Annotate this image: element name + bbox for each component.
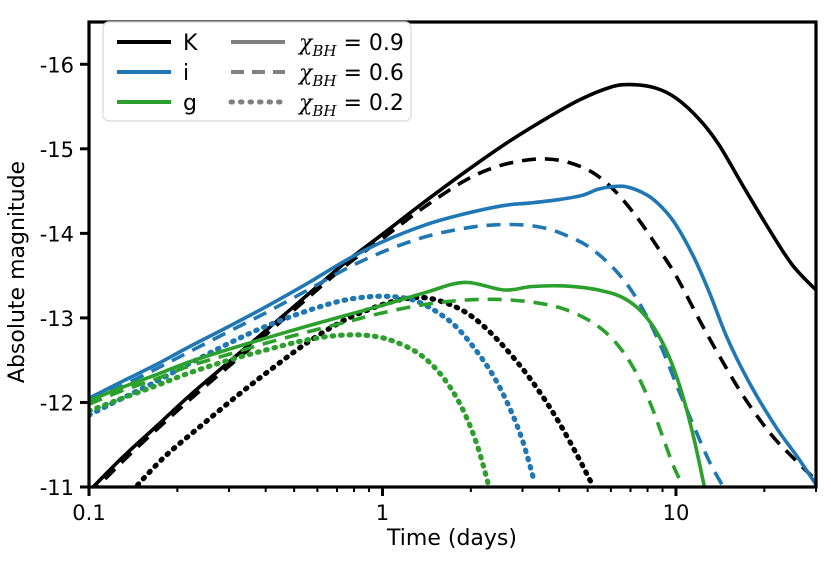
y-tick-label: -13 — [40, 307, 74, 331]
y-tick-label: -14 — [40, 222, 74, 246]
legend-group: KigχBH = 0.9χBH = 0.6χBH = 0.2 — [103, 22, 411, 121]
y-tick-label: -11 — [40, 476, 74, 500]
x-axis-title: Time (days) — [386, 526, 517, 551]
x-tick-label: 0.1 — [72, 501, 105, 525]
x-tick-label: 1 — [376, 501, 389, 525]
y-tick-label: -16 — [40, 53, 74, 77]
y-axis-title: Absolute magnitude — [5, 161, 30, 383]
y-tick-label: -15 — [40, 138, 74, 162]
figure-canvas: 0.1110-16-15-14-13-12-11 KigχBH = 0.9χBH… — [0, 0, 831, 564]
legend-label-k: K — [183, 31, 198, 56]
y-tick-label: -12 — [40, 391, 74, 415]
matplotlib-figure: 0.1110-16-15-14-13-12-11 KigχBH = 0.9χBH… — [0, 0, 831, 564]
legend-label-i: i — [183, 61, 189, 86]
legend-label-g: g — [183, 91, 197, 116]
x-tick-label: 10 — [663, 501, 690, 525]
